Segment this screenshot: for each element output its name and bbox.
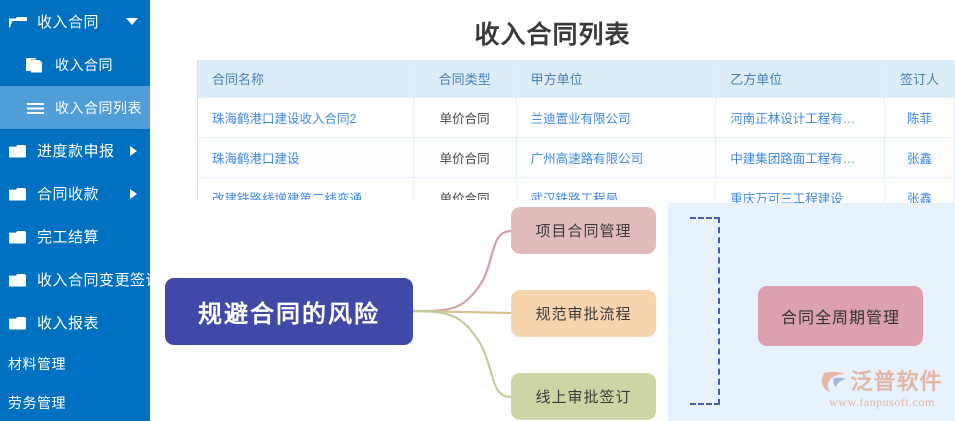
cell-party-b[interactable]: 河南正林设计工程有… [716, 98, 885, 137]
folder-icon [8, 314, 30, 332]
sidebar-item-income-contract-root[interactable]: 收入合同 [0, 0, 150, 43]
watermark-url: www.fanpusoft.com [829, 395, 935, 410]
cell-party-a[interactable]: 兰迪置业有限公司 [517, 98, 717, 137]
sidebar-item-contract-receipt[interactable]: 合同收款 [0, 172, 150, 215]
cell-contract-type: 单价合同 [414, 98, 517, 137]
cell-party-a[interactable]: 广州高速路有限公司 [517, 138, 717, 177]
sidebar-item-label: 完工结算 [37, 226, 99, 247]
cell-signer[interactable]: 张鑫 [885, 138, 955, 177]
chevron-down-icon[interactable] [126, 18, 138, 25]
sidebar-item-label: 材料管理 [8, 354, 66, 374]
mindmap-root-label: 规避合同的风险 [198, 294, 380, 329]
sidebar-item-label: 收入报表 [37, 312, 99, 333]
mindmap-branch-node-2[interactable]: 规范审批流程 [511, 290, 656, 337]
sidebar-item-label: 进度款申报 [37, 140, 115, 161]
contract-table: 合同名称 合同类型 甲方单位 乙方单位 签订人 珠海鹤港口建设收入合同2 单价合… [197, 60, 955, 218]
sidebar-item-label: 收入合同 [37, 11, 99, 32]
sidebar-item-label: 劳务管理 [8, 393, 66, 413]
summary-panel: 合同全周期管理 泛普软件 www.fanpusoft.com [668, 203, 955, 421]
column-header-contract-name[interactable]: 合同名称 [198, 60, 414, 97]
list-icon [26, 99, 48, 117]
mindmap-branch-node-3[interactable]: 线上审批签订 [511, 373, 656, 420]
folder-icon [8, 185, 30, 203]
sidebar-item-labor-management[interactable]: 劳务管理 [0, 383, 150, 421]
watermark-name: 泛普软件 [850, 370, 942, 394]
watermark-top: 泛普软件 [821, 370, 942, 394]
cell-contract-name[interactable]: 珠海鹤港口建设 [198, 138, 414, 177]
sidebar-item-income-contract[interactable]: 收入合同 [0, 43, 150, 86]
table-header-row: 合同名称 合同类型 甲方单位 乙方单位 签订人 [198, 60, 955, 98]
sidebar-item-income-report[interactable]: 收入报表 [0, 301, 150, 344]
sidebar-item-label: 收入合同 [55, 55, 113, 75]
mindmap-branch-label: 线上审批签订 [535, 386, 631, 407]
column-header-party-a[interactable]: 甲方单位 [517, 60, 717, 97]
column-header-signer[interactable]: 签订人 [885, 60, 955, 97]
chevron-right-icon[interactable] [130, 146, 137, 156]
cell-signer[interactable]: 陈菲 [885, 98, 955, 137]
column-header-contract-type[interactable]: 合同类型 [414, 60, 517, 97]
title-bar: 收入合同列表 [150, 0, 955, 60]
sidebar-item-label: 合同收款 [37, 183, 99, 204]
sidebar: 收入合同 收入合同 收入合同列表 进度款申报 合同收款 完工结算 收入合同变更签… [0, 0, 150, 421]
connector-branch-3 [413, 311, 511, 397]
cell-contract-name[interactable]: 珠海鹤港口建设收入合同2 [198, 98, 414, 137]
sidebar-item-completion-settlement[interactable]: 完工结算 [0, 215, 150, 258]
cell-party-b[interactable]: 中建集团路面工程有… [716, 138, 885, 177]
table-row[interactable]: 珠海鹤港口建设收入合同2 单价合同 兰迪置业有限公司 河南正林设计工程有… 陈菲 [198, 98, 955, 138]
folder-icon [8, 228, 30, 246]
sidebar-item-material-management[interactable]: 材料管理 [0, 344, 150, 383]
sidebar-item-contract-change-visa[interactable]: 收入合同变更签证 [0, 258, 150, 301]
document-icon [26, 56, 48, 74]
folder-icon [8, 271, 30, 289]
fanpu-logo-icon [821, 370, 847, 394]
mindmap-branch-node-1[interactable]: 项目合同管理 [511, 207, 656, 254]
lifecycle-node-label: 合同全周期管理 [781, 304, 900, 328]
lifecycle-node[interactable]: 合同全周期管理 [758, 286, 923, 346]
cell-contract-type: 单价合同 [414, 138, 517, 177]
sidebar-item-label: 收入合同列表 [55, 98, 142, 118]
mindmap-root-node[interactable]: 规避合同的风险 [165, 278, 413, 345]
sidebar-item-progress-payment[interactable]: 进度款申报 [0, 129, 150, 172]
folder-open-icon [8, 13, 30, 31]
chevron-right-icon[interactable] [130, 189, 137, 199]
column-header-party-b[interactable]: 乙方单位 [716, 60, 885, 97]
table-row[interactable]: 珠海鹤港口建设 单价合同 广州高速路有限公司 中建集团路面工程有… 张鑫 [198, 138, 955, 178]
mindmap-branch-label: 项目合同管理 [535, 220, 631, 241]
folder-icon [8, 142, 30, 160]
dashed-bracket [690, 217, 720, 405]
watermark: 泛普软件 www.fanpusoft.com [816, 370, 948, 414]
page-title: 收入合同列表 [150, 15, 955, 51]
mindmap-panel: 规避合同的风险 项目合同管理 规范审批流程 线上审批签订 [150, 200, 668, 421]
sidebar-item-income-contract-list[interactable]: 收入合同列表 [0, 86, 150, 129]
mindmap-branch-label: 规范审批流程 [535, 303, 631, 324]
sidebar-item-label: 收入合同变更签证 [37, 269, 161, 290]
connector-branch-1 [413, 231, 511, 311]
